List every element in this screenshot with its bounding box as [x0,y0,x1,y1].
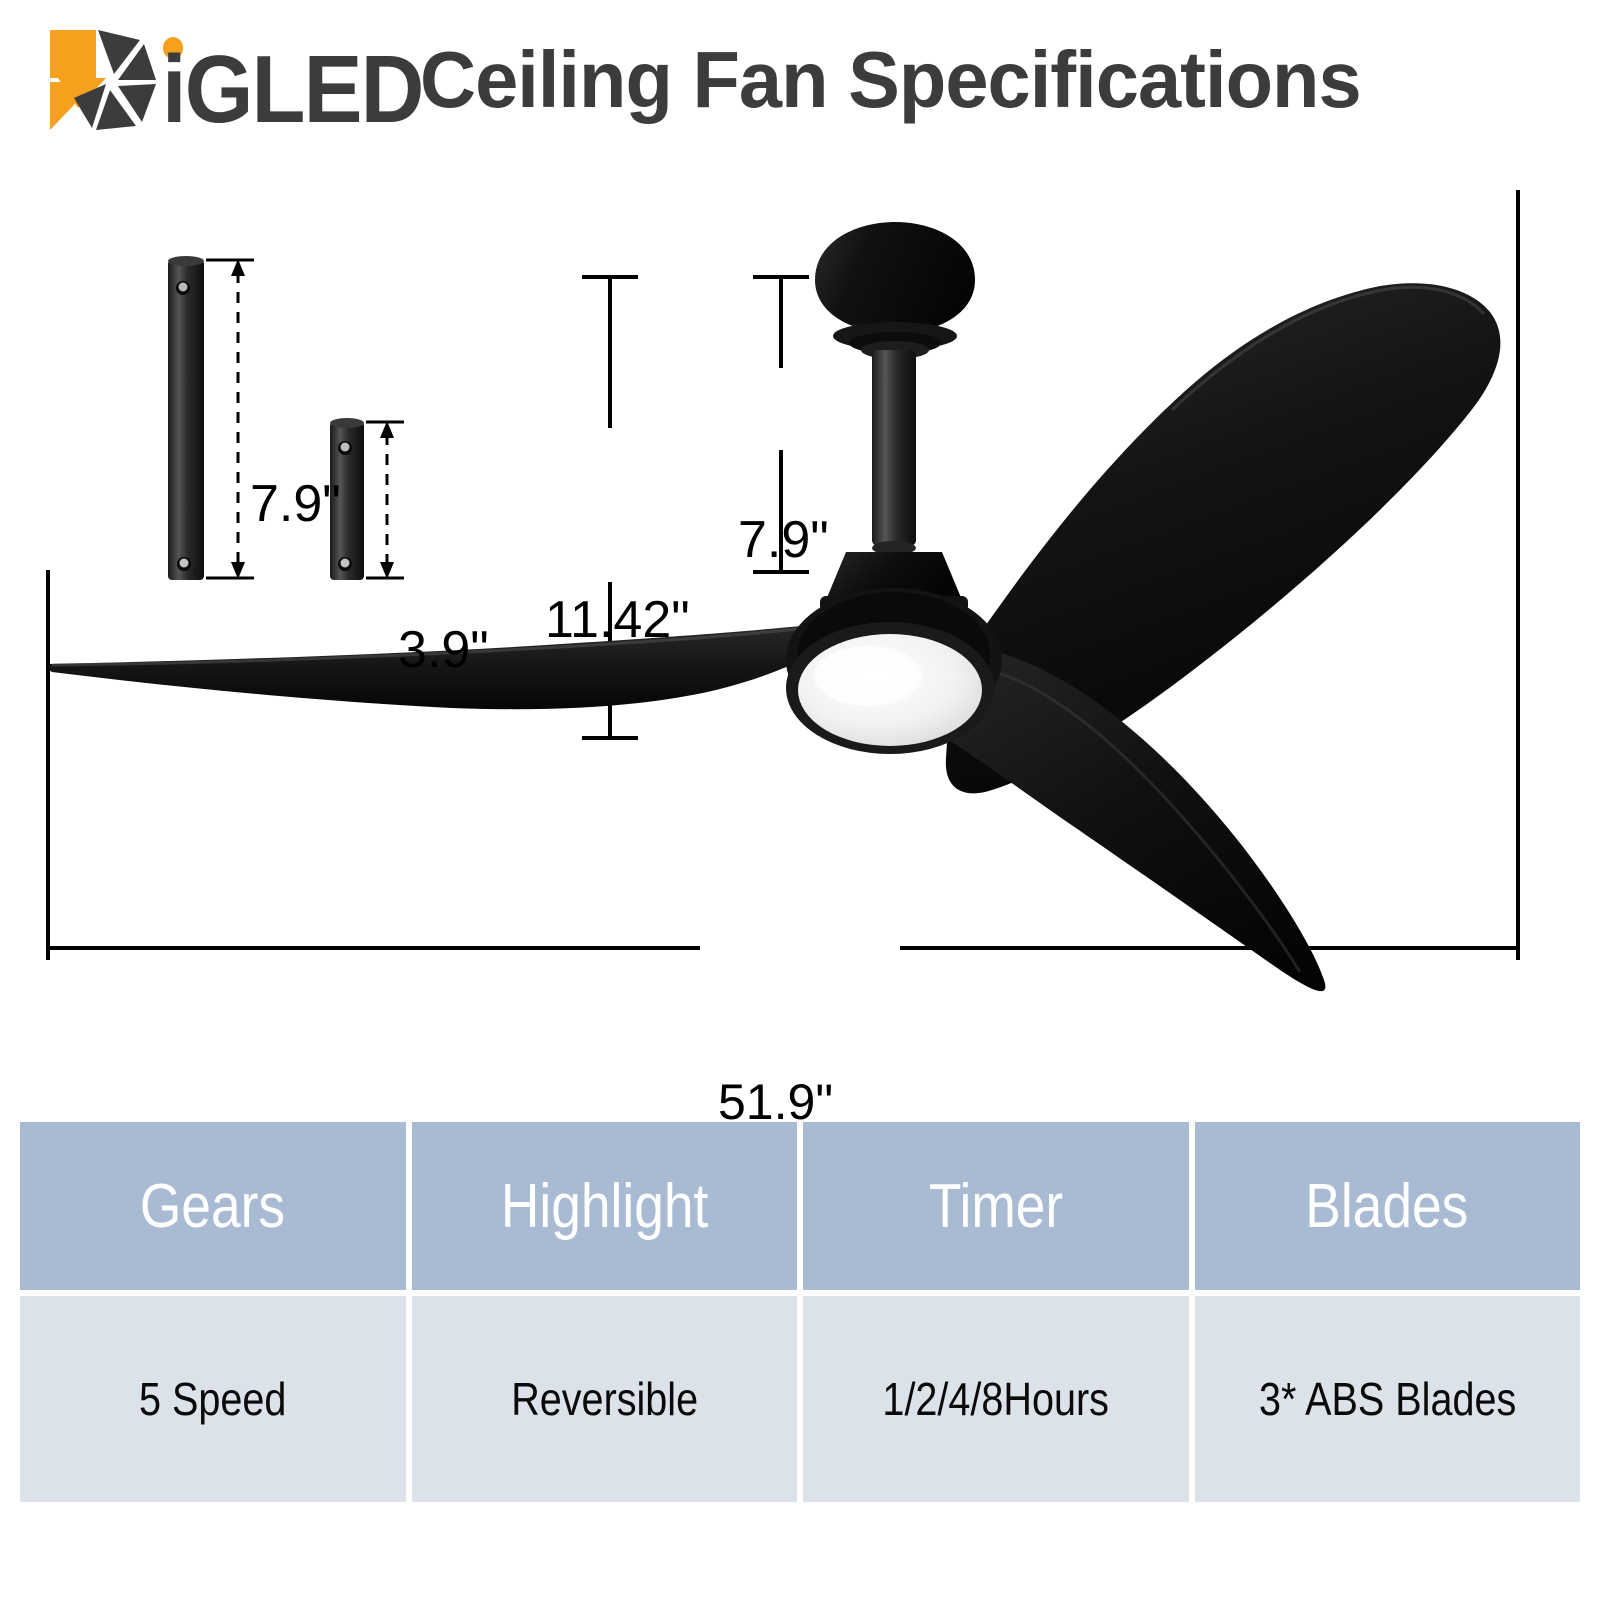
page-title: Ceiling Fan Specifications [420,30,1361,130]
table-header-cell-timer: Timer [803,1122,1189,1290]
header-label-gears: Gears [140,1171,285,1242]
table-header-cell-gears: Gears [20,1122,406,1290]
dimension-label-canopy-drop: 7.9" [738,512,829,568]
table-cell-blades-value: 3* ABS Blades [1195,1296,1581,1502]
fan-canopy [815,222,975,359]
dimension-label-downrod-short: 3.9" [398,622,489,678]
value-timer: 1/2/4/8Hours [882,1372,1109,1426]
dimension-label-total-height: 11.42" [545,592,690,648]
dimline-downrod-long [206,259,254,579]
dimline-downrod-short [366,421,404,579]
table-cell-gears-value: 5 Speed [20,1296,406,1502]
page-header: iGLED Ceiling Fan Specifications [0,0,1600,160]
value-gears: 5 Speed [139,1372,286,1426]
table-header-cell-highlight: Highlight [412,1122,798,1290]
header-label-highlight: Highlight [501,1171,708,1242]
table-header-cell-blades: Blades [1195,1122,1581,1290]
header-label-timer: Timer [929,1171,1063,1242]
specification-table: Gears Highlight Timer Blades 5 Speed Rev… [20,1122,1580,1502]
fan-downrod [872,350,916,555]
table-cell-highlight-value: Reversible [412,1296,798,1502]
brand-wordmark: iGLED [162,30,392,149]
header-label-blades: Blades [1306,1171,1469,1242]
value-highlight: Reversible [511,1372,698,1426]
svg-text:iGLED: iGLED [162,36,423,143]
led-light-kit [786,622,994,754]
value-blades: 3* ABS Blades [1259,1372,1516,1426]
fan-illustration [0,160,1600,1060]
downrod-long-illustration [168,256,204,580]
digled-aperture-logo-icon [48,28,160,132]
dimension-label-downrod-long: 7.9" [250,476,341,532]
fan-dimension-diagram: 7.9" 3.9" 11.42" 7.9" 51.9" [0,160,1600,1060]
table-cell-timer-value: 1/2/4/8Hours [803,1296,1189,1502]
